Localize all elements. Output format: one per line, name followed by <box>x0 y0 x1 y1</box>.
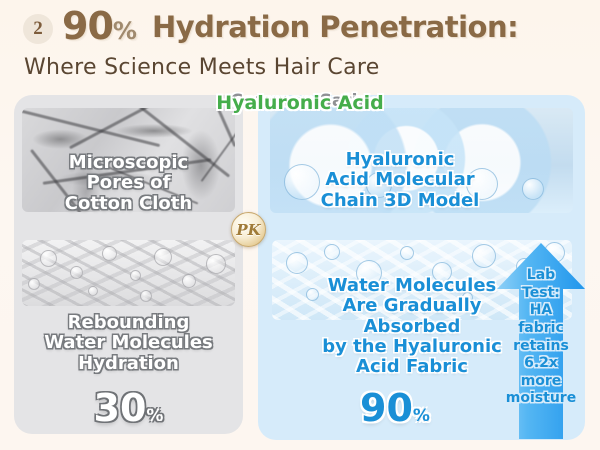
callout-line: moisture <box>497 390 585 408</box>
left-stat-unit: % <box>146 406 163 426</box>
headline-percent-value: 90 <box>62 4 113 48</box>
lab-test-callout: Lab Test: HA fabric retains 6.2x more mo… <box>497 243 585 439</box>
callout-line: Lab <box>497 267 585 285</box>
caption-line: Water Molecules <box>14 333 243 353</box>
headline-percent-unit: % <box>113 17 136 45</box>
header: 2 90% Hydration Penetration: Where Scien… <box>0 0 600 90</box>
right-stat-value: 90% <box>280 386 510 430</box>
callout-line: 6.2x <box>497 355 585 373</box>
left-stat-number: 30 <box>94 386 147 430</box>
left-stat-value: 30% <box>14 386 243 430</box>
lab-test-text: Lab Test: HA fabric retains 6.2x more mo… <box>497 267 585 408</box>
callout-line: retains <box>497 338 585 356</box>
callout-line: more <box>497 373 585 391</box>
headline-percent: 90% <box>62 4 136 48</box>
caption-line: Microscopic <box>22 153 235 173</box>
caption-line: Acid Molecular <box>270 170 530 190</box>
callout-line: fabric <box>497 320 585 338</box>
right-panel-heading: Hyaluronic Acid <box>0 92 600 114</box>
left-bottom-caption: Rebounding Water Molecules Hydration <box>14 313 243 374</box>
grey-fabric-water-droplets-photo <box>22 240 235 306</box>
pk-versus-badge: PK <box>231 212 266 247</box>
infographic-canvas: 2 90% Hydration Penetration: Where Scien… <box>0 0 600 450</box>
pk-versus-label: PK <box>236 221 260 239</box>
step-number-badge: 2 <box>23 14 53 44</box>
page-subtitle: Where Science Meets Hair Care <box>24 55 380 80</box>
caption-line: Rebounding <box>14 313 243 333</box>
callout-line: Test: <box>497 285 585 303</box>
caption-line: Hydration <box>14 354 243 374</box>
caption-line: Cotton Cloth <box>22 194 235 214</box>
caption-line: Hyaluronic <box>270 150 530 170</box>
caption-line: Chain 3D Model <box>270 191 530 211</box>
callout-line: HA <box>497 302 585 320</box>
right-stat-number: 90 <box>360 386 413 430</box>
left-top-caption: Microscopic Pores of Cotton Cloth <box>22 153 235 214</box>
right-top-caption: Hyaluronic Acid Molecular Chain 3D Model <box>270 150 530 211</box>
page-title: Hydration Penetration: <box>152 10 518 44</box>
caption-line: Pores of <box>22 173 235 193</box>
right-stat-unit: % <box>413 406 430 426</box>
